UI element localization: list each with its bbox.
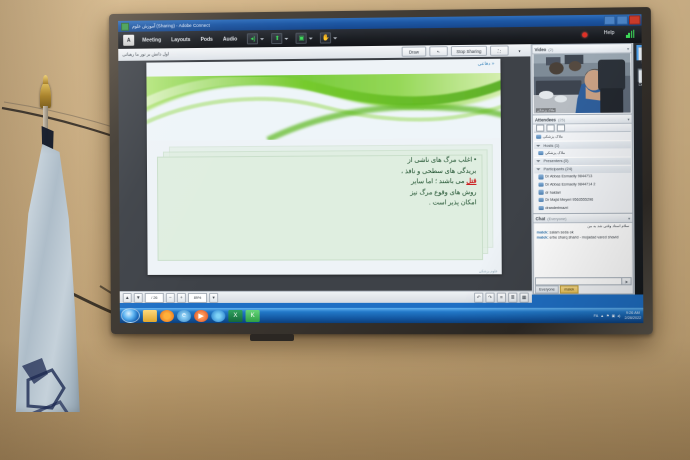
system-tray: FA ▲ ⚑ ▣ ◂) 9:26 AM 2/28/2022 <box>594 311 642 319</box>
share-pod-menu[interactable]: ▾ <box>512 46 528 54</box>
tv-screen: آموزش علوم (Sharing) - Adobe Connect A M… <box>118 14 643 323</box>
network-icon[interactable]: ⚑ <box>606 313 609 317</box>
media-player-taskbar-icon[interactable]: ▶ <box>194 309 208 321</box>
webcam-toggle[interactable]: ▣ <box>296 33 313 44</box>
windows-desktop: آموزش علوم (Sharing) - Adobe Connect A M… <box>118 14 643 323</box>
draw-button[interactable]: Draw <box>402 46 427 56</box>
chat-pod-scope: (Everyone) <box>547 217 566 221</box>
chat-sender: malek: <box>537 230 549 234</box>
windows-taskbar: e ▶ X K FA ▲ ⚑ ▣ ◂) 9:26 AM <box>120 308 644 323</box>
layout-discussion-label: Discussion <box>639 83 644 87</box>
presentation-toolbar-right: ↶ ↷ ≡ ≣ ▦ <box>474 292 529 302</box>
room-background: آموزش علوم (Sharing) - Adobe Connect A M… <box>0 0 690 460</box>
flag-finial-icon <box>40 82 51 108</box>
share-pod-viewer[interactable]: « دفاعی <box>118 56 532 291</box>
stop-sharing-button[interactable]: Stop Sharing <box>451 46 487 57</box>
slide-body: • اغلب مرگ های ناشی از بریدگی های سطحی و… <box>157 146 491 261</box>
recording-indicator-icon <box>582 32 587 37</box>
speaker-icon: ◂) <box>247 33 258 44</box>
speaker-toggle[interactable]: ◂) <box>247 33 264 44</box>
prev-slide-button[interactable]: ▲ <box>123 292 132 302</box>
layout-thumbnail-icon <box>637 68 643 82</box>
video-pod-count: (2) <box>548 47 553 51</box>
chevron-down-icon <box>536 144 540 146</box>
fullscreen-button[interactable]: ⛶ <box>490 45 509 55</box>
help-link[interactable]: Help <box>604 30 615 36</box>
attendee-group-presenters-label: Presenters (0) <box>543 159 568 163</box>
attendee-options-button[interactable] <box>557 124 565 131</box>
layout-thumbnail-icon <box>637 46 643 60</box>
layout-a-button[interactable]: ≡ <box>497 292 506 302</box>
chat-messages[interactable]: سلام استاد وقتی شد به من malek: salam se… <box>535 223 632 277</box>
adobe-connect-icon <box>121 22 129 30</box>
menu-pods[interactable]: Pods <box>201 36 213 42</box>
firefox-taskbar-icon[interactable] <box>160 309 174 321</box>
tv-wall-mount <box>250 334 294 341</box>
pod-column: Video (2) ▾ <box>530 43 635 295</box>
minimize-button[interactable] <box>604 16 616 25</box>
slide-highlight-word: قتل <box>466 178 476 185</box>
chevron-down-icon[interactable] <box>260 38 264 40</box>
video-pod: Video (2) ▾ <box>531 43 632 115</box>
microphone-toggle[interactable]: ⬆ <box>272 33 289 44</box>
attendee-name: dr haidari <box>545 190 561 194</box>
chevron-down-icon <box>536 160 540 162</box>
volume-icon[interactable]: ◂) <box>617 313 620 317</box>
zoom-level-field[interactable]: 89% <box>188 292 207 302</box>
attendees-count: (25) <box>558 118 565 122</box>
avatar <box>539 205 544 210</box>
video-pod-menu[interactable]: ▾ <box>627 46 629 51</box>
chat-tabs: Everyone malek <box>535 286 632 293</box>
zoom-in-button[interactable]: + <box>177 292 186 302</box>
layout-sidebar: Sharing Discussion ✕ ⊞ <box>633 43 643 295</box>
chevron-down-icon[interactable] <box>285 37 289 39</box>
microphone-icon: ⬆ <box>272 33 283 44</box>
avatar <box>538 190 543 195</box>
adobe-connect-logo: A <box>123 35 134 46</box>
attendee-group-hosts-label: Hosts (1) <box>543 143 559 147</box>
clock[interactable]: 9:26 AM 2/28/2022 <box>625 311 642 319</box>
chat-text: salam seda ok <box>550 230 574 234</box>
menu-audio[interactable]: Audio <box>223 36 237 42</box>
chevron-down-icon <box>536 168 540 170</box>
presentation-toolbar: ▲ ▼ / 26 − + 89% ▾ ↶ ↷ ≡ ≣ ▦ <box>120 291 532 303</box>
wall-floor-shadow <box>0 340 690 460</box>
list-item[interactable]: dranderimazri <box>534 203 631 211</box>
avatar <box>536 134 541 139</box>
zoom-menu-button[interactable]: ▾ <box>209 292 218 302</box>
chat-sender: malek: <box>537 236 549 240</box>
attendee-view-button[interactable] <box>536 124 544 131</box>
chevron-down-icon[interactable] <box>309 37 313 39</box>
window-title: آموزش علوم (Sharing) - Adobe Connect <box>132 22 210 29</box>
excel-taskbar-icon[interactable]: X <box>228 309 242 321</box>
video-feed-scene <box>534 53 631 113</box>
slide-footer-note: علوم پزشکی <box>479 269 498 273</box>
attendee-name: dranderimazri <box>545 206 568 210</box>
connection-strength-icon <box>626 30 634 38</box>
maximize-button[interactable] <box>616 15 628 24</box>
attendee-name: Dr Abbas Esmaeily 9844713 <box>545 175 592 179</box>
layout-sharing-label: Sharing <box>641 60 643 64</box>
chat-pod: Chat (Everyone) ▾ سلام استاد وقتی شد به … <box>532 213 633 295</box>
chat-tab-private[interactable]: malek <box>560 285 578 293</box>
show-hidden-icons-icon[interactable]: ▲ <box>600 313 604 317</box>
more-options-button[interactable]: ▦ <box>519 292 528 302</box>
video-feed[interactable]: ملاک پزشکی <box>534 53 631 113</box>
attendees-pod-title: Attendees <box>535 117 556 122</box>
presentation-slide: « دفاعی <box>146 59 501 275</box>
internet-explorer-taskbar-icon[interactable]: e <box>177 309 191 321</box>
chat-pod-title: Chat <box>536 216 546 221</box>
clock-date: 2/28/2022 <box>625 315 642 319</box>
avatar <box>538 182 543 187</box>
layout-b-button[interactable]: ≣ <box>508 292 517 302</box>
attendee-name: ملاک پزشکی <box>545 151 565 155</box>
wall-mounted-tv: آموزش علوم (Sharing) - Adobe Connect A M… <box>109 7 653 334</box>
flag-cloth <box>8 144 86 412</box>
zoom-out-button[interactable]: − <box>166 292 175 302</box>
chat-text: erbe sharq sharid - mojadad vared shavid <box>550 235 619 239</box>
slide-page-field[interactable]: / 26 <box>145 292 164 302</box>
attendees-pod-menu[interactable]: ▾ <box>627 116 629 121</box>
window-controls[interactable] <box>604 15 641 25</box>
language-indicator[interactable]: FA <box>594 313 599 317</box>
close-button[interactable] <box>629 15 641 24</box>
attendee-sort-button[interactable] <box>546 124 554 131</box>
slide-header-note: « دفاعی <box>478 61 495 67</box>
avatar <box>538 175 543 180</box>
attendees-pod: Attendees (25) ▾ <box>532 114 633 215</box>
kmplayer-taskbar-icon[interactable]: K <box>246 309 260 321</box>
edge-taskbar-icon[interactable] <box>211 309 225 321</box>
menu-meeting[interactable]: Meeting <box>142 37 161 43</box>
redo-button[interactable]: ↷ <box>485 292 494 302</box>
undo-button[interactable]: ↶ <box>474 292 483 302</box>
slide-line-3-text: می باشند ؛ اما سایر <box>411 178 464 185</box>
chevron-down-icon[interactable] <box>334 37 338 39</box>
slide-text: • اغلب مرگ های ناشی از بریدگی های سطحی و… <box>165 152 483 254</box>
webcam-icon: ▣ <box>296 33 307 44</box>
share-pod-title: اول دانش بر نور ما رهبانی <box>122 51 169 58</box>
video-participant-name: ملاک پزشکی <box>536 108 556 112</box>
menu-layouts[interactable]: Layouts <box>171 37 190 43</box>
attendee-name: Dr Majid Meyeri 9563555296 <box>545 198 593 202</box>
slide-swoosh-graphic <box>146 73 500 141</box>
pointer-button[interactable]: ⬑ <box>429 46 448 56</box>
video-pod-title: Video <box>534 47 546 52</box>
next-slide-button[interactable]: ▼ <box>134 292 143 302</box>
layout-sharing[interactable]: Sharing <box>636 46 643 65</box>
chat-tab-everyone[interactable]: Everyone <box>535 285 559 293</box>
chat-pod-menu[interactable]: ▾ <box>628 215 630 220</box>
attendee-name: Dr Abbas Esmaeily 9844714 2 <box>545 182 595 186</box>
attendee-me-label: ملاک پزشکی <box>543 135 563 139</box>
layout-discussion[interactable]: Discussion <box>637 68 644 87</box>
attendee-group-participants-label: Participants (24) <box>544 167 573 171</box>
slide-line-5: امکان پذیر است . <box>171 198 476 210</box>
avatar <box>538 151 543 156</box>
chat-message: malek: erbe sharq sharid - mojadad vared… <box>537 235 630 241</box>
avatar <box>539 198 544 203</box>
explorer-taskbar-icon[interactable] <box>143 309 157 321</box>
chat-pod-header: Chat (Everyone) ▾ <box>533 214 632 224</box>
raise-hand-button[interactable]: ✋ <box>320 32 337 43</box>
attendee-list[interactable]: Hosts (1) ملاک پزشکی Presenters (0) <box>534 140 631 212</box>
action-center-icon[interactable]: ▣ <box>612 313 616 317</box>
flag <box>6 82 98 412</box>
chat-send-button[interactable]: ➤ <box>621 277 631 285</box>
raise-hand-icon: ✋ <box>320 32 331 43</box>
start-button[interactable] <box>121 308 140 323</box>
tv-bezel: آموزش علوم (Sharing) - Adobe Connect A M… <box>109 7 653 334</box>
flag-emblem-icon <box>8 144 86 412</box>
